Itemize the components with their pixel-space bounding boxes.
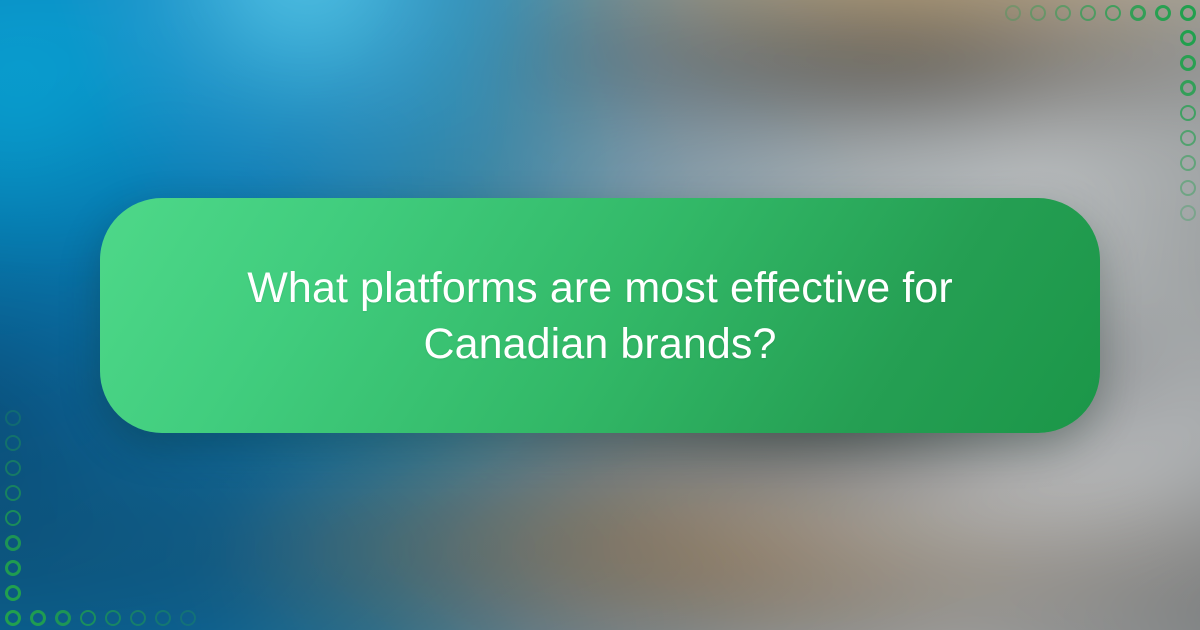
decorative-ring bbox=[105, 610, 121, 626]
decorative-ring bbox=[5, 610, 21, 626]
decorative-ring bbox=[55, 610, 71, 626]
decorative-ring bbox=[1080, 5, 1096, 21]
decorative-ring bbox=[5, 435, 21, 451]
decorative-ring bbox=[5, 510, 21, 526]
decorative-ring bbox=[5, 535, 21, 551]
decorative-ring bbox=[1180, 180, 1196, 196]
decorative-ring bbox=[1030, 5, 1046, 21]
decorative-ring bbox=[30, 610, 46, 626]
decorative-ring bbox=[1180, 155, 1196, 171]
share-card-canvas: What platforms are most effective for Ca… bbox=[0, 0, 1200, 630]
decorative-dots-top-right bbox=[1000, 0, 1200, 225]
decorative-ring bbox=[5, 560, 21, 576]
decorative-ring bbox=[5, 485, 21, 501]
decorative-ring bbox=[1180, 205, 1196, 221]
question-text: What platforms are most effective for Ca… bbox=[220, 260, 980, 372]
decorative-ring bbox=[1180, 30, 1196, 46]
decorative-ring bbox=[130, 610, 146, 626]
decorative-ring bbox=[1155, 5, 1171, 21]
decorative-ring bbox=[1055, 5, 1071, 21]
decorative-ring bbox=[1180, 80, 1196, 96]
decorative-ring bbox=[5, 410, 21, 426]
decorative-ring bbox=[1180, 5, 1196, 21]
decorative-ring bbox=[1005, 5, 1021, 21]
decorative-ring bbox=[1105, 5, 1121, 21]
decorative-ring bbox=[1180, 130, 1196, 146]
decorative-dots-bottom-left bbox=[0, 405, 225, 630]
decorative-ring bbox=[1180, 105, 1196, 121]
decorative-ring bbox=[5, 585, 21, 601]
decorative-ring bbox=[1130, 5, 1146, 21]
decorative-ring bbox=[1180, 55, 1196, 71]
decorative-ring bbox=[180, 610, 196, 626]
question-card: What platforms are most effective for Ca… bbox=[100, 198, 1100, 433]
decorative-ring bbox=[155, 610, 171, 626]
decorative-ring bbox=[80, 610, 96, 626]
decorative-ring bbox=[5, 460, 21, 476]
